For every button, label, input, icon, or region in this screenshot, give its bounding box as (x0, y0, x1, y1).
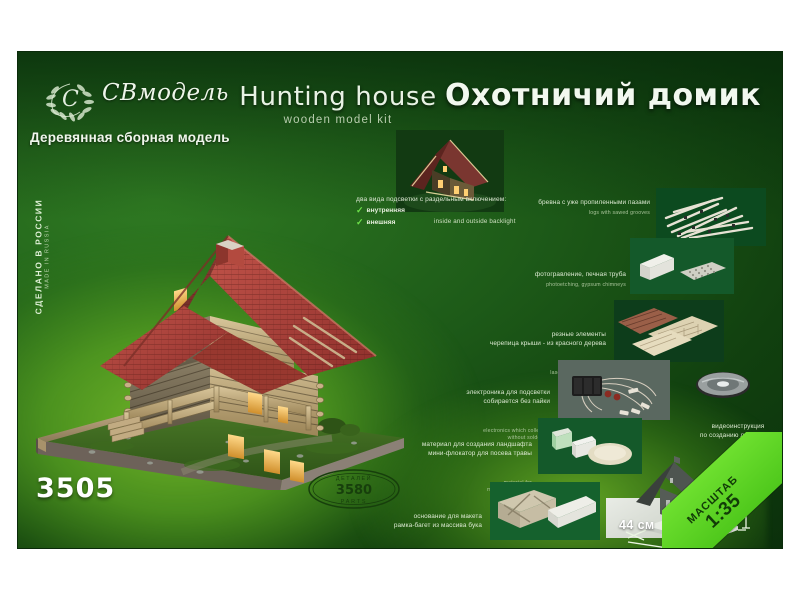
title-russian: Охотничий домик (433, 78, 773, 113)
component-photo-dvd (694, 368, 752, 402)
component-photo-foundation (490, 482, 600, 540)
product-box-artwork: С СВмодель Hunting house wooden model ki… (18, 52, 782, 548)
main-model-photo (32, 180, 412, 490)
check-mark-icon: ✓ (356, 206, 364, 215)
feature-caption-photoetching-ru: фотогравление, печная труба (516, 270, 626, 279)
feature-caption-electronics-ru: электроника для подсветки собирается без… (426, 388, 550, 407)
feature-caption-foundation: основание для макета рамка-багет из масс… (390, 494, 482, 548)
model-roof (100, 236, 376, 394)
feature-caption-logs-ru: бревна с уже пропиленными пазами (526, 198, 650, 207)
parts-seal-count: 3580 (336, 483, 372, 498)
dimension-depth: 44 см (619, 518, 655, 532)
parts-count-seal: ДЕТАЛЕЙ 3580 PARTS (306, 468, 402, 510)
flock-jar (552, 428, 572, 450)
scale-corner-banner: МАСШТАБ 1:35 (662, 432, 782, 548)
parts-seal-bottom-text: PARTS (341, 499, 367, 505)
component-photo-photoetching (630, 238, 734, 294)
component-photo-laser-cut (614, 300, 724, 362)
backlight-option-inside-label: внутренняя (367, 207, 405, 214)
title-english: Hunting house (223, 82, 453, 112)
feature-caption-foundation-ru: основание для макета рамка-багет из масс… (390, 512, 482, 531)
feature-caption-photoetching: фотогравление, печная труба photoetching… (516, 270, 626, 290)
subtitle-english: wooden model kit (223, 114, 453, 126)
battery-holder (572, 376, 602, 396)
product-box-screenshot: С СВмодель Hunting house wooden model ki… (0, 0, 800, 600)
feature-caption-landscape-ru: материал для создания ландшафта мини-фло… (410, 440, 532, 459)
feature-caption-photoetching-en: photoetching, gypsum chimneys (516, 282, 626, 290)
backlight-option-outside-label: внешняя (367, 219, 396, 226)
brand-logo: С СВмодель (40, 74, 210, 122)
check-mark-icon: ✓ (356, 218, 364, 227)
component-photo-electronics (558, 360, 670, 420)
parts-seal-top-text: ДЕТАЛЕЙ (336, 474, 372, 482)
svg-text:С: С (62, 87, 79, 112)
article-number: 3505 (36, 473, 115, 504)
feature-caption-logs-en: logs with sawed grooves (526, 210, 650, 218)
feature-caption-logs: бревна с уже пропиленными пазами logs wi… (526, 198, 650, 218)
dvd-disc-icon (694, 368, 752, 402)
feature-caption-laser-cut-ru: резные элементы черепица крыши - из крас… (442, 330, 606, 349)
brand-name: СВмодель (102, 80, 229, 106)
subtitle-russian: Деревянная сборная модель (30, 130, 230, 145)
backlight-caption-english: inside and outside backlight (434, 218, 516, 225)
